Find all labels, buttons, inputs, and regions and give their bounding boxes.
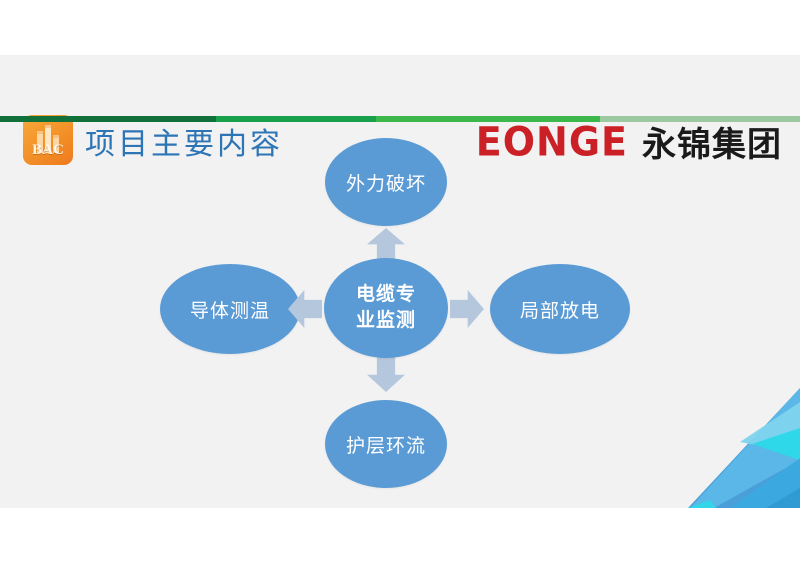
arrow-up-icon bbox=[367, 228, 405, 262]
bac-blocks-icon: BAC bbox=[23, 115, 73, 165]
slide-header: BAC 项目主要内容 EONGE 永锦集团 bbox=[0, 55, 800, 123]
diagram-node-top-label: 外力破坏 bbox=[346, 169, 426, 196]
divider-segment-3 bbox=[376, 116, 600, 122]
bac-icon-label: BAC bbox=[23, 142, 73, 159]
diagram-node-right[interactable]: 局部放电 bbox=[490, 264, 630, 354]
diagram-node-bottom[interactable]: 护层环流 bbox=[325, 400, 447, 488]
diagram-center-label-line1: 电缆专 bbox=[356, 282, 416, 308]
diagram-node-center[interactable]: 电缆专 业监测 bbox=[324, 258, 448, 358]
divider-segment-2 bbox=[216, 116, 376, 122]
divider-segment-1 bbox=[0, 116, 216, 122]
diagram-node-left-label: 导体测温 bbox=[190, 296, 270, 323]
diagram-node-top[interactable]: 外力破坏 bbox=[325, 138, 447, 226]
diagram-node-right-label: 局部放电 bbox=[520, 296, 600, 323]
divider-segment-4 bbox=[600, 116, 800, 122]
geometric-triangles-decoration bbox=[670, 388, 800, 508]
arrow-right-icon bbox=[450, 290, 484, 328]
diagram-center-label-line2: 业监测 bbox=[356, 308, 416, 334]
header-divider bbox=[0, 116, 800, 122]
slide-canvas: BAC 项目主要内容 EONGE 永锦集团 外力破坏 导体测温 局部放电 护层环… bbox=[0, 0, 800, 566]
diagram-node-left[interactable]: 导体测温 bbox=[160, 264, 300, 354]
cable-monitoring-diagram: 外力破坏 导体测温 局部放电 护层环流 电缆专 业监测 bbox=[140, 130, 680, 510]
geometric-triangles-svg bbox=[670, 388, 800, 508]
diagram-node-bottom-label: 护层环流 bbox=[346, 431, 426, 458]
arrow-down-icon bbox=[367, 356, 405, 392]
